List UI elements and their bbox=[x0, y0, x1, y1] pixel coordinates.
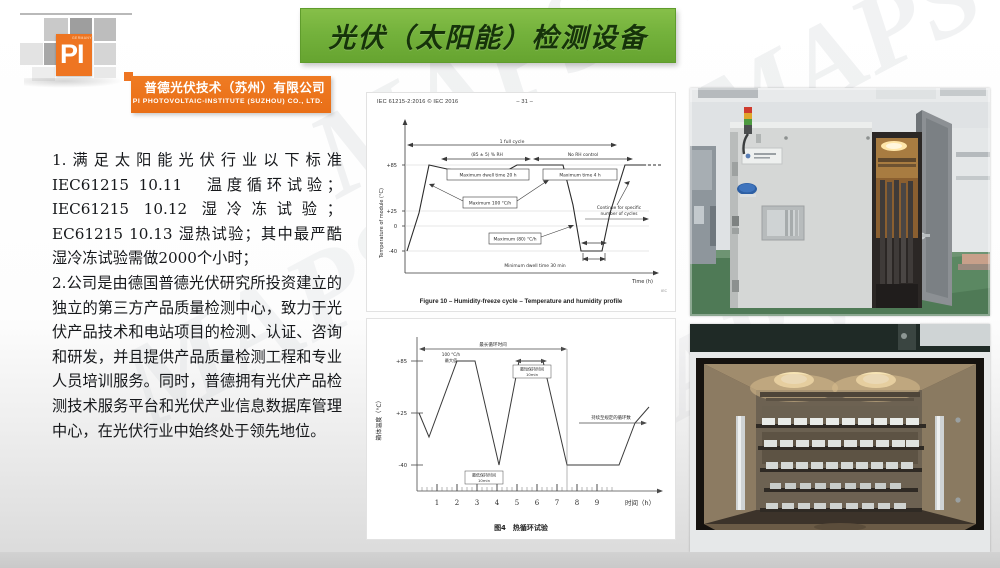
annotation-rh-85: (85 ± 5) % RH bbox=[471, 152, 503, 158]
body-paragraph-2: 2.公司是由德国普德光伏研究所投资建立的独立的第三方产品质量检测中心，致力于光伏… bbox=[52, 271, 342, 443]
figure-caption-top: Figure 10 – Humidity-freeze cycle – Temp… bbox=[367, 298, 675, 305]
annotation-rate-line2: 最大值 bbox=[445, 357, 458, 364]
annotation-continue-cycles-cn: 持续至规定的循环数 bbox=[591, 414, 631, 421]
presentation-slide: MAPS MAPS MAPS MAPS GERMANY PI 光伏（太阳能）检测… bbox=[0, 0, 1000, 568]
xtick-3: 3 bbox=[475, 499, 479, 507]
annotation-min-hold-top-val: 10min bbox=[526, 372, 539, 377]
xtick-2: 2 bbox=[455, 499, 459, 507]
annotation-min-hold-bottom-val: 10min bbox=[478, 478, 491, 483]
figure-thermal-cycle-test: 最长循环时间 100 °C/h 最大值 最短保持时间 10min 最低保持时间 … bbox=[366, 318, 676, 540]
annotation-max-time-4h: Maximum time 4 h bbox=[559, 173, 601, 179]
photo-chamber-interior bbox=[690, 324, 990, 552]
company-name-cn: 普德光伏技术（苏州）有限公司 bbox=[131, 79, 325, 96]
xtick-9: 9 bbox=[595, 499, 599, 507]
xtick-5: 5 bbox=[515, 499, 519, 507]
figure-iec-code: IEC bbox=[661, 289, 667, 293]
thermal-cycle-chart-svg: 最长循环时间 100 °C/h 最大值 最短保持时间 10min 最低保持时间 … bbox=[367, 319, 677, 541]
ytick-cn-25: +25 bbox=[396, 411, 407, 417]
xtick-1: 1 bbox=[435, 499, 439, 507]
body-paragraph-1: 1.满足太阳能光伏行业以下标准 IEC61215 10.11 温度循环试验；IE… bbox=[52, 148, 342, 271]
xtick-6: 6 bbox=[535, 499, 540, 507]
company-name-en: PI PHOTOVOLTAIC-INSTITUTE (SUZHOU) CO., … bbox=[131, 96, 325, 107]
logo-pi-mark: GERMANY PI bbox=[56, 34, 92, 76]
logo-mark-text: PI bbox=[60, 41, 84, 68]
annotation-continue-cycles-line2: number of cycles bbox=[601, 211, 639, 217]
annotation-rate-line1: 100 °C/h bbox=[442, 352, 461, 357]
slide-body-text: 1.满足太阳能光伏行业以下标准 IEC61215 10.11 温度循环试验；IE… bbox=[52, 148, 342, 443]
annotation-max-100-ch: Maximum 100 °C/h bbox=[469, 201, 512, 207]
photo-chamber-exterior bbox=[690, 88, 990, 316]
y-axis-label-cn: 箱体温度（°C） bbox=[375, 397, 383, 440]
page-title: 光伏（太阳能）检测设备 bbox=[329, 16, 648, 55]
slide-title-banner: 光伏（太阳能）检测设备 bbox=[300, 8, 676, 63]
x-axis-label-cn: 时间（h） bbox=[625, 498, 655, 507]
figure-humidity-freeze-cycle: IEC 61215-2:2016 © IEC 2016 – 31 – bbox=[366, 92, 676, 312]
annotation-1-full-cycle: 1 full cycle bbox=[500, 139, 525, 145]
company-logo: GERMANY PI bbox=[14, 6, 134, 84]
xtick-8: 8 bbox=[575, 499, 579, 507]
figure-caption-bottom: 图4 热循环试验 bbox=[367, 523, 675, 533]
annotation-min-hold-bottom: 最低保持时间 bbox=[472, 472, 496, 478]
ytick-25: +25 bbox=[386, 209, 397, 215]
annotation-max-80-ch: Maximum (80) °C/h bbox=[494, 237, 537, 243]
annotation-max-cycle-time: 最长循环时间 bbox=[479, 341, 507, 348]
annotation-min-hold-top: 最短保持时间 bbox=[520, 366, 544, 372]
ytick-minus40: -40 bbox=[389, 249, 397, 255]
xtick-4: 4 bbox=[495, 499, 500, 507]
y-axis-label: Temperature of module (°C) bbox=[379, 188, 385, 259]
annotation-no-rh-control: No RH control bbox=[568, 152, 598, 158]
ytick-0: 0 bbox=[394, 224, 397, 230]
humidity-freeze-chart-svg: 1 full cycle (85 ± 5) % RH No RH control… bbox=[367, 93, 677, 313]
company-name-banner: 普德光伏技术（苏州）有限公司 PI PHOTOVOLTAIC-INSTITUTE… bbox=[131, 76, 331, 113]
annotation-min-dwell-30min: Minimum dwell time 30 min bbox=[504, 263, 565, 269]
slide-bottom-strip bbox=[0, 552, 1000, 568]
ytick-85: +85 bbox=[386, 163, 397, 169]
ytick-cn-85: +85 bbox=[396, 359, 407, 365]
annotation-continue-cycles-line1: Continue for specific bbox=[597, 205, 642, 211]
ytick-cn-minus40: -40 bbox=[399, 463, 407, 469]
annotation-max-dwell-20h: Maximum dwell time 20 h bbox=[459, 173, 516, 179]
logo-shadow bbox=[24, 78, 124, 88]
x-axis-label: Time (h) bbox=[631, 279, 653, 285]
xtick-7: 7 bbox=[555, 499, 559, 507]
